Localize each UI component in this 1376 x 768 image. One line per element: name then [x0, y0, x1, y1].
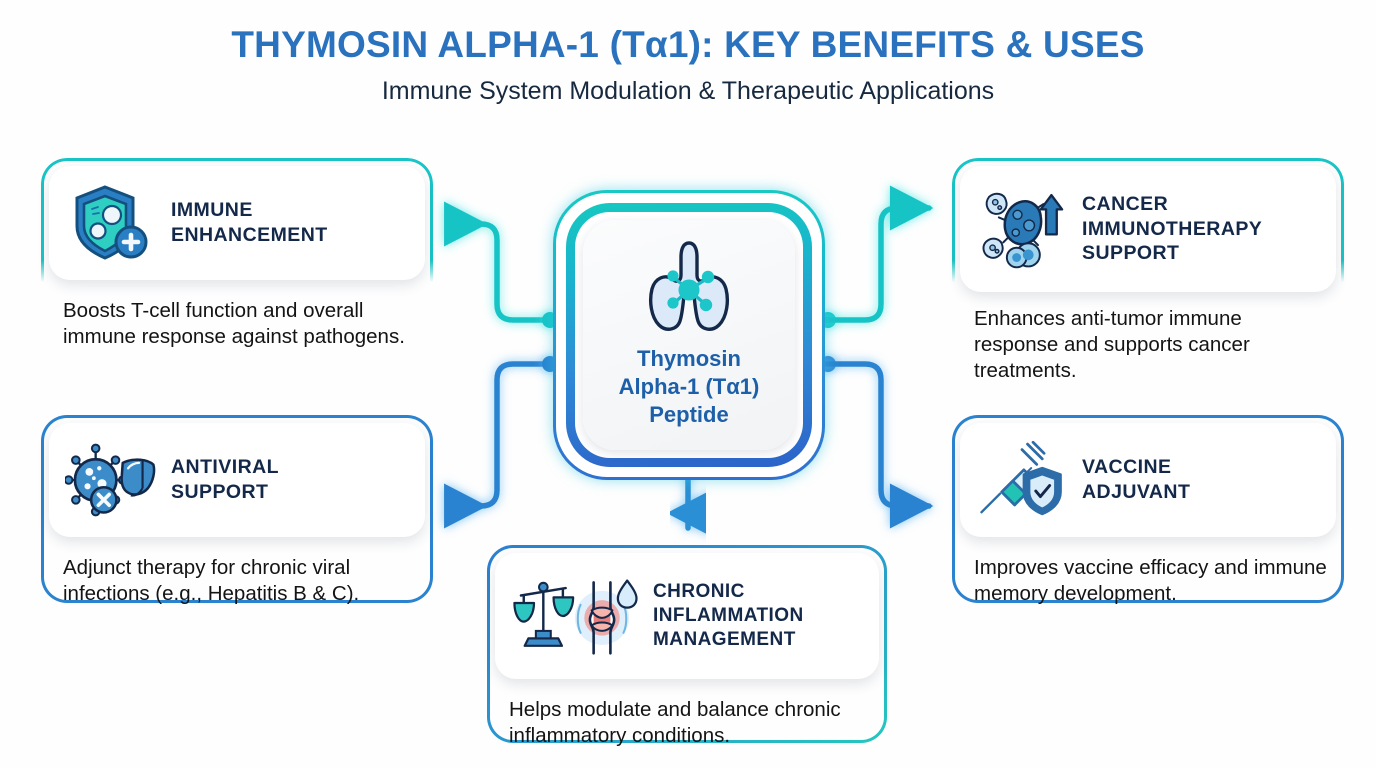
benefit-card-cancer-immunotherapy-support[interactable]: CANCER IMMUNOTHERAPY SUPPORT Enhances an…	[952, 158, 1344, 380]
central-node-label-line1: Thymosin	[619, 345, 760, 373]
benefit-title-line3: MANAGEMENT	[653, 628, 804, 652]
benefit-title-line1: ANTIVIRAL	[171, 455, 279, 480]
benefit-header: IMMUNE ENHANCEMENT	[49, 166, 425, 280]
benefit-title: ANTIVIRAL SUPPORT	[171, 455, 279, 504]
benefit-title: IMMUNE ENHANCEMENT	[171, 198, 328, 247]
benefit-title-line2: SUPPORT	[171, 480, 279, 505]
benefit-header: VACCINE ADJUVANT	[960, 423, 1336, 537]
page-title: THYMOSIN ALPHA-1 (Tα1): KEY BENEFITS & U…	[0, 24, 1376, 67]
benefit-title-line2: ENHANCEMENT	[171, 223, 328, 248]
central-node-label-line2: Alpha-1 (Tα1)	[619, 373, 760, 401]
infographic-canvas: THYMOSIN ALPHA-1 (Tα1): KEY BENEFITS & U…	[0, 0, 1376, 768]
benefit-description: Enhances anti-tumor immune response and …	[974, 306, 1330, 385]
benefit-description: Adjunct therapy for chronic viral infect…	[63, 555, 419, 607]
central-node-label-line3: Peptide	[619, 401, 760, 429]
benefit-title-line2: ADJUVANT	[1082, 480, 1190, 505]
central-node[interactable]: Thymosin Alpha-1 (Tα1) Peptide	[553, 190, 825, 480]
benefit-title: CHRONIC INFLAMMATION MANAGEMENT	[653, 580, 804, 652]
central-node-card: Thymosin Alpha-1 (Tα1) Peptide	[583, 220, 795, 450]
central-node-label: Thymosin Alpha-1 (Tα1) Peptide	[619, 345, 760, 429]
virus-liver-blocked-icon	[65, 439, 157, 521]
benefit-card-vaccine-adjuvant[interactable]: VACCINE ADJUVANT Improves vaccine effica…	[952, 415, 1344, 603]
benefit-title-line1: IMMUNE	[171, 198, 328, 223]
benefit-title-line3: SUPPORT	[1082, 241, 1262, 266]
syringe-shield-check-icon	[976, 439, 1068, 521]
benefit-header: ANTIVIRAL SUPPORT	[49, 423, 425, 537]
benefit-title-line1: VACCINE	[1082, 455, 1190, 480]
benefit-description: Helps modulate and balance chronic infla…	[509, 697, 873, 749]
benefit-title-line1: CANCER	[1082, 192, 1262, 217]
benefit-header: CHRONIC INFLAMMATION MANAGEMENT	[495, 553, 879, 679]
benefit-title-line2: INFLAMMATION	[653, 604, 804, 628]
page-subtitle: Immune System Modulation & Therapeutic A…	[0, 76, 1376, 106]
benefit-title-line1: CHRONIC	[653, 580, 804, 604]
benefit-title-line2: IMMUNOTHERAPY	[1082, 217, 1262, 242]
benefit-card-immune-enhancement[interactable]: IMMUNE ENHANCEMENT Boosts T-cell functio…	[41, 158, 433, 380]
benefit-card-antiviral-support[interactable]: ANTIVIRAL SUPPORT Adjunct therapy for ch…	[41, 415, 433, 603]
tumor-cells-up-arrow-icon	[976, 188, 1068, 270]
benefit-description: Boosts T-cell function and overall immun…	[63, 298, 419, 350]
benefit-card-chronic-inflammation-management[interactable]: CHRONIC INFLAMMATION MANAGEMENT Helps mo…	[487, 545, 887, 743]
header: THYMOSIN ALPHA-1 (Tα1): KEY BENEFITS & U…	[0, 24, 1376, 106]
benefit-title: VACCINE ADJUVANT	[1082, 455, 1190, 504]
benefit-title: CANCER IMMUNOTHERAPY SUPPORT	[1082, 192, 1262, 266]
benefit-description: Improves vaccine efficacy and immune mem…	[974, 555, 1330, 607]
shield-cells-plus-icon	[65, 182, 157, 264]
lungs-molecule-icon	[637, 233, 741, 339]
balance-scale-inflamed-joint-icon	[511, 575, 639, 657]
benefit-header: CANCER IMMUNOTHERAPY SUPPORT	[960, 166, 1336, 292]
